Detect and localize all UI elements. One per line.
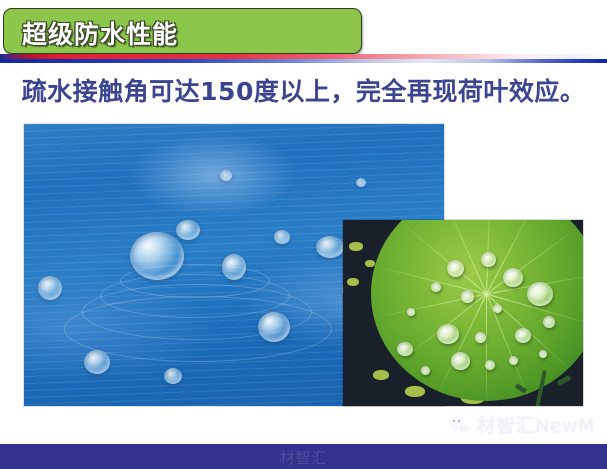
- slide-canvas: 超级防水性能 疏水接触角可达150度以上，完全再现荷叶效应。: [0, 0, 607, 444]
- slide-title-box: 超级防水性能: [3, 8, 362, 54]
- page-title: 超级防水性能: [22, 15, 178, 51]
- leaf-droplet: [481, 252, 496, 267]
- water-droplet: [316, 236, 344, 258]
- leaf-vein: [486, 294, 487, 404]
- leaf-droplet: [475, 332, 486, 343]
- watermark: 材智汇NewM: [449, 411, 595, 438]
- leaf-droplet: [543, 316, 555, 328]
- leaf-droplet: [461, 290, 474, 303]
- algae-speck: [405, 386, 425, 397]
- algae-speck: [349, 242, 363, 251]
- water-droplet: [130, 232, 184, 280]
- leaf-droplet: [503, 268, 523, 287]
- water-droplet: [220, 170, 232, 181]
- leaf-vein: [441, 220, 487, 294]
- water-droplet: [84, 350, 110, 374]
- leaf-droplet: [515, 328, 531, 343]
- leaf-droplet: [485, 360, 495, 370]
- leaf-droplet: [451, 352, 470, 370]
- wechat-eye: [458, 420, 460, 422]
- leaf-droplet: [527, 282, 553, 306]
- lotus-leaf: [371, 220, 583, 401]
- leaf-droplet: [539, 350, 547, 358]
- leaf-droplet: [431, 282, 441, 292]
- leaf-droplet: [397, 342, 413, 356]
- wechat-icon: [449, 416, 470, 434]
- water-droplet: [274, 230, 290, 244]
- wechat-eye: [453, 420, 455, 422]
- leaf-droplet: [437, 324, 459, 344]
- water-droplet: [222, 254, 246, 280]
- water-droplet: [258, 312, 290, 342]
- algae-speck: [373, 370, 389, 380]
- leaf-droplet: [421, 366, 430, 375]
- lotus-leaf-photo: [343, 220, 583, 406]
- water-droplet: [176, 220, 200, 240]
- divider-blue-band: [0, 59, 607, 63]
- water-droplet: [356, 178, 366, 187]
- footer-watermark-text: 材智汇: [0, 447, 607, 468]
- footer-bar: 材智汇: [0, 444, 607, 469]
- leaf-droplet: [407, 308, 415, 316]
- divider: [0, 54, 607, 63]
- slide-body-text: 疏水接触角可达150度以上，完全再现荷叶效应。: [0, 72, 607, 108]
- water-droplet: [164, 368, 182, 384]
- leaf-droplet: [493, 304, 502, 313]
- watermark-text: 材智汇NewM: [477, 411, 595, 438]
- water-droplet: [38, 276, 62, 300]
- algae-speck: [365, 260, 375, 267]
- leaf-droplet: [509, 356, 518, 365]
- wechat-bubble-small: [458, 424, 470, 434]
- leaf-droplet: [447, 260, 464, 277]
- algae-speck: [347, 278, 359, 286]
